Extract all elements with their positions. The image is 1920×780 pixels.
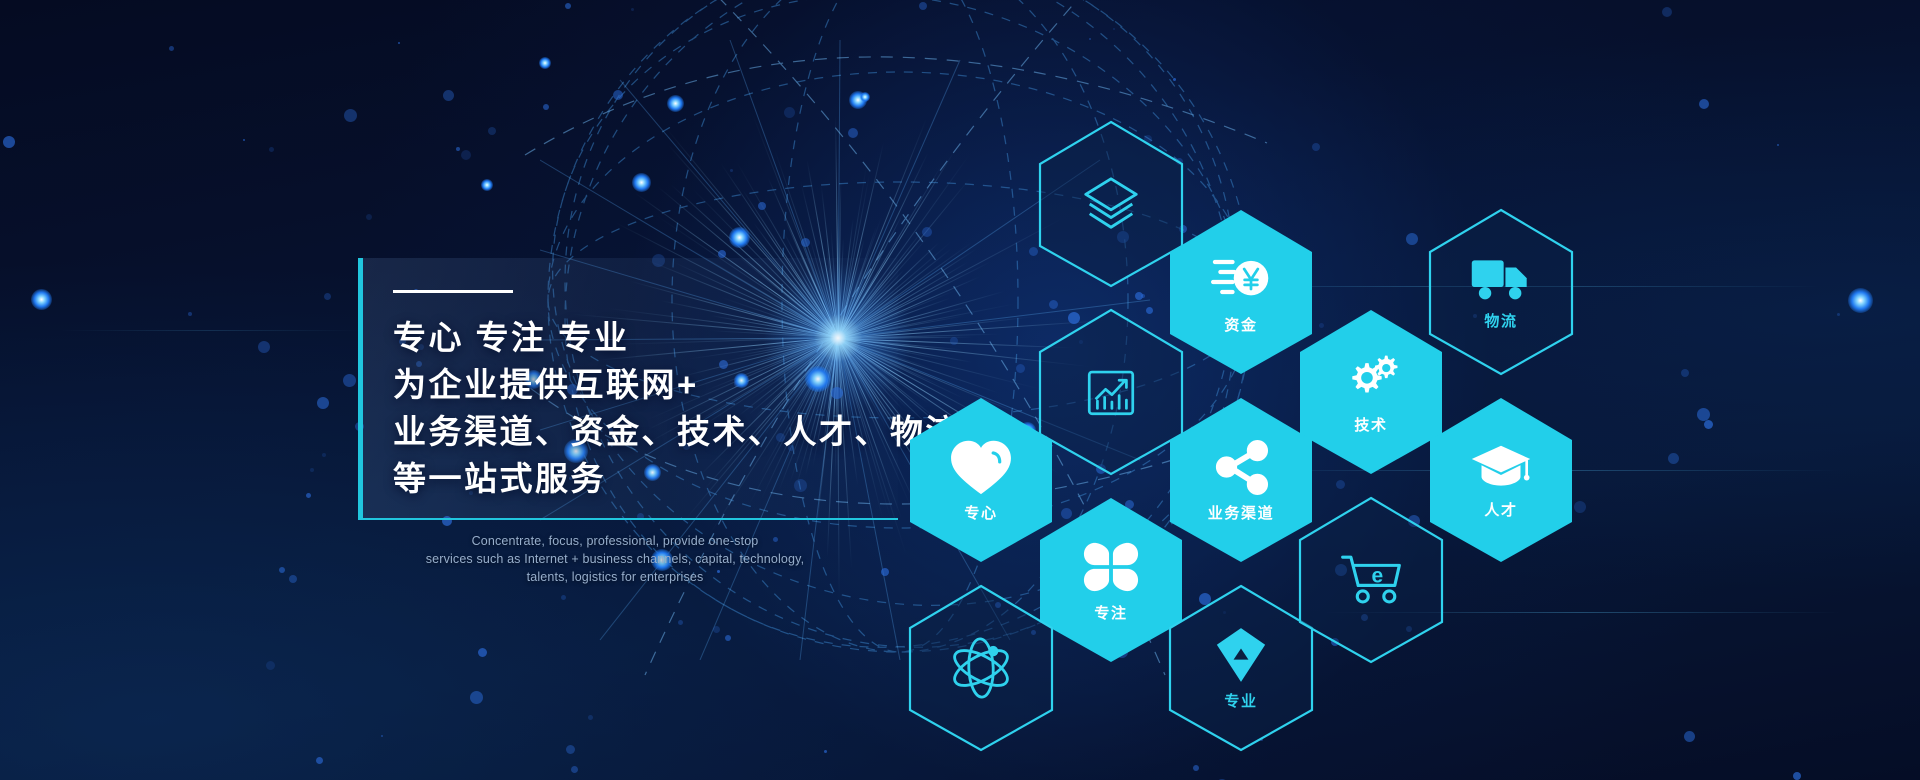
hexagon-label: 物流 [1484,310,1517,331]
hexagon-logistics[interactable]: 物流 [1427,208,1575,376]
graduation-cap-icon [1470,441,1532,493]
hexagon-label: 资金 [1224,314,1257,335]
clover-icon [1082,538,1140,596]
hexagon-capital[interactable]: 资金 [1167,208,1315,376]
diamond-icon [1215,626,1267,684]
hexagon-heart[interactable]: 专心 [907,396,1055,564]
gears-icon [1341,350,1401,408]
tech-banner: 专心 专注 专业 为企业提供互联网+ 业务渠道、资金、技术、人才、物流 等一站式… [0,0,1920,780]
hexagon-growth[interactable] [1037,308,1185,476]
truck-icon [1470,254,1532,304]
svg-text:e: e [1372,565,1384,588]
hexagon-label: 技术 [1354,414,1387,435]
growth-chart-icon [1082,363,1140,421]
hexagon-focus[interactable]: 专注 [1037,496,1185,664]
layers-icon [1080,173,1142,235]
hexagon-talent[interactable]: 人才 [1427,396,1575,564]
hexagon-label: 专心 [964,502,997,523]
heart-icon [949,438,1013,496]
hexagon-channels[interactable]: 业务渠道 [1167,396,1315,564]
atom-icon [948,637,1014,699]
shopping-cart-e-icon: e [1339,552,1403,608]
share-nodes-icon [1213,438,1269,496]
hexagon-ecommerce[interactable]: e [1297,496,1445,664]
hexagon-label: 专注 [1094,602,1127,623]
money-yen-icon [1211,250,1271,308]
hexagon-grid: 资金 技术 物流 人才 业务渠道 [0,0,1920,780]
hexagon-layers[interactable] [1037,120,1185,288]
hexagon-label: 人才 [1484,499,1517,520]
hexagon-label: 业务渠道 [1208,502,1274,523]
hexagon-tech[interactable]: 技术 [1297,308,1445,476]
hexagon-label: 专业 [1224,690,1257,711]
hexagon-atom[interactable] [907,584,1055,752]
hexagon-pro[interactable]: 专业 [1167,584,1315,752]
